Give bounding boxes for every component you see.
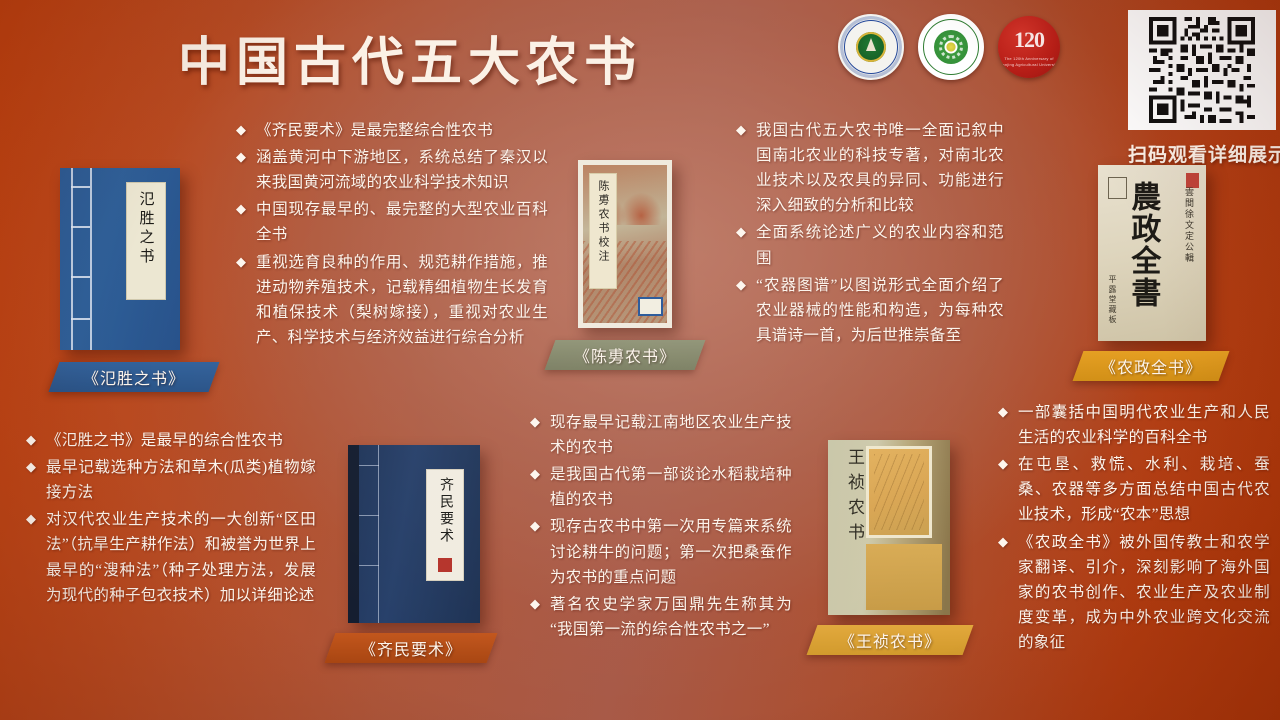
nanjing-agricultural-university-logo: [838, 14, 904, 80]
diamond-bullet-icon: ◆: [236, 198, 256, 219]
book-cover-title: 氾胜之书: [136, 191, 157, 267]
bullet-item: ◆ “农器图谱”以图说形式全面介绍了农业器械的性能和构造，为每种农具谱诗一首，为…: [736, 273, 1004, 348]
diamond-bullet-icon: ◆: [736, 274, 756, 295]
book-figure-qi-min-yao-shu: 齐民要术 《齐民要术》: [348, 445, 492, 663]
book-cover-label: 氾胜之书: [126, 182, 166, 300]
diamond-bullet-icon: ◆: [736, 119, 756, 140]
book-banner-label: 《王祯农书》: [839, 628, 941, 652]
book-stitch: [359, 465, 379, 466]
book-cover-label: 齐民要术: [426, 469, 464, 581]
book-cover-lower-panel: [866, 544, 942, 610]
diamond-bullet-icon: ◆: [26, 456, 46, 477]
bullet-text: 是我国古代第一部谈论水稻栽培种植的农书: [550, 462, 792, 512]
diamond-bullet-icon: ◆: [736, 221, 756, 242]
bullet-item: ◆ 涵盖黄河中下游地区，系统总结了秦汉以来我国黄河流域的农业科学技术知识: [236, 145, 548, 195]
book-banner-label: 《齐民要术》: [360, 636, 462, 660]
bullet-item: ◆ 《农政全书》被外国传教士和农学家翻译、引介，深刻影响了海外国家的农书创作、农…: [998, 530, 1270, 656]
book-cover-image: 陈旉农书校注: [578, 160, 672, 328]
bullet-item: ◆ 我国古代五大农书唯一全面记叙中国南北农业的科技专著，对南北农业技术以及农具的…: [736, 118, 1004, 218]
anniversary-number: 120: [1014, 27, 1044, 53]
book-spine-line: [378, 445, 379, 623]
bullet-text: 一部囊括中国明代农业生产和人民生活的农业科学的百科全书: [1018, 400, 1270, 450]
diamond-bullet-icon: ◆: [236, 119, 256, 140]
bullet-item: ◆ 在屯垦、救慌、水利、栽培、蚕桑、农器等多方面总结中国古代农业技术，形成“农本…: [998, 452, 1270, 527]
diamond-bullet-icon: ◆: [998, 453, 1018, 474]
book-spine-line: [90, 168, 92, 350]
bullet-text: 现存最早记载江南地区农业生产技术的农书: [550, 410, 792, 460]
qr-caption: 扫码观看详细展示: [1128, 140, 1276, 167]
book-figure-nong-zheng-quan-shu: 雲間徐文定公輯 農政全書 平露堂藏板 《农政全书》: [1098, 165, 1224, 381]
bullet-text: “农器图谱”以图说形式全面介绍了农业器械的性能和构造，为每种农具谱诗一首，为后世…: [756, 273, 1004, 348]
bullet-text: 我国古代五大农书唯一全面记叙中国南北农业的科技专著，对南北农业技术以及农具的异同…: [756, 118, 1004, 218]
bullet-text: 《农政全书》被外国传教士和农学家翻译、引介，深刻影响了海外国家的农书创作、农业生…: [1018, 530, 1270, 656]
bullet-item: ◆ 现存最早记载江南地区农业生产技术的农书: [530, 410, 792, 460]
book-stitch: [359, 565, 379, 566]
book-cover-image: 氾胜之书: [60, 168, 180, 350]
bullet-item: ◆ 全面系统论述广义的农业内容和范围: [736, 220, 1004, 270]
bullet-item: ◆ 《齐民要术》是最完整综合性农书: [236, 118, 548, 143]
book-banner-fan-sheng-zhi-shu: 《氾胜之书》: [49, 362, 220, 392]
text-block-wang-zhen-nong-shu: ◆ 我国古代五大农书唯一全面记叙中国南北农业的科技专著，对南北农业技术以及农具的…: [736, 118, 1004, 350]
book-banner-label: 《陈旉农书》: [574, 343, 676, 367]
bullet-text: 在屯垦、救慌、水利、栽培、蚕桑、农器等多方面总结中国古代农业技术，形成“农本”思…: [1018, 452, 1270, 527]
anniversary-subtitle: The 120th Anniversary of Nanjing Agricul…: [998, 56, 1060, 67]
book-cover-label: 陈旉农书校注: [589, 173, 617, 289]
logo-emblem: [856, 32, 886, 62]
diamond-bullet-icon: ◆: [26, 508, 46, 529]
book-banner-nong-zheng-quan-shu: 《农政全书》: [1073, 351, 1230, 381]
diamond-bullet-icon: ◆: [26, 429, 46, 450]
book-cover-left-text: 平露堂藏板: [1107, 275, 1118, 325]
text-block-chen-fu-nong-shu: ◆ 现存最早记载江南地区农业生产技术的农书 ◆ 是我国古代第一部谈论水稻栽培种植…: [530, 410, 792, 644]
red-seal: [1186, 173, 1199, 188]
book-banner-chen-fu-nong-shu: 《陈旉农书》: [545, 340, 706, 370]
diamond-bullet-icon: ◆: [530, 515, 550, 536]
bullet-item: ◆ 著名农史学家万国鼎先生称其为“我国第一流的综合性农书之一”: [530, 592, 792, 642]
book-banner-label: 《氾胜之书》: [83, 365, 185, 389]
diamond-bullet-icon: ◆: [998, 531, 1018, 552]
book-banner-qi-min-yao-shu: 《齐民要术》: [325, 633, 498, 663]
diamond-bullet-icon: ◆: [530, 463, 550, 484]
publisher-mark: [638, 297, 663, 316]
book-edge: [348, 445, 359, 623]
diamond-bullet-icon: ◆: [236, 146, 256, 167]
logo-row: 120 The 120th Anniversary of Nanjing Agr…: [838, 14, 1060, 80]
book-cover-image: 齐民要术: [348, 445, 480, 623]
seal-box: [1108, 177, 1127, 199]
text-block-fan-sheng-zhi-shu: ◆ 《氾胜之书》是最早的综合性农书 ◆ 最早记载选种方法和草木(瓜类)植物嫁接方…: [26, 428, 316, 610]
bullet-item: ◆ 一部囊括中国明代农业生产和人民生活的农业科学的百科全书: [998, 400, 1270, 450]
diamond-bullet-icon: ◆: [236, 251, 256, 272]
book-figure-fan-sheng-zhi-shu: 氾胜之书 《氾胜之书》: [60, 168, 214, 392]
bullet-item: ◆ 对汉代农业生产技术的一大创新“区田法”（抗旱生产耕作法）和被誉为世界上最早的…: [26, 507, 316, 607]
book-stitch: [71, 226, 90, 228]
bullet-text: 《氾胜之书》是最早的综合性农书: [46, 428, 316, 453]
bullet-text: 著名农史学家万国鼎先生称其为“我国第一流的综合性农书之一”: [550, 592, 792, 642]
bullet-item: ◆ 《氾胜之书》是最早的综合性农书: [26, 428, 316, 453]
bullet-item: ◆ 重视选育良种的作用、规范耕作措施，推进动物养殖技术，记载精细植物生长发育和植…: [236, 250, 548, 350]
logo-emblem: [934, 30, 968, 64]
bullet-text: 全面系统论述广义的农业内容和范围: [756, 220, 1004, 270]
infographic-poster: 中国古代五大农书 120 The 120th Anniversary of Na…: [0, 0, 1280, 720]
bullet-text: 中国现存最早的、最完整的大型农业百科全书: [256, 197, 548, 247]
book-cover-title: 王祯农书: [842, 448, 867, 548]
bullet-item: ◆ 现存古农书中第一次用专篇来系统讨论耕牛的问题；第一次把桑蚕作为农书的重点问题: [530, 514, 792, 589]
book-cover-image: 雲間徐文定公輯 農政全書 平露堂藏板: [1098, 165, 1206, 341]
book-stitch: [359, 515, 379, 516]
diamond-bullet-icon: ◆: [998, 401, 1018, 422]
bullet-text: 《齐民要术》是最完整综合性农书: [256, 118, 548, 143]
120th-anniversary-logo: 120 The 120th Anniversary of Nanjing Agr…: [998, 16, 1060, 78]
bullet-item: ◆ 是我国古代第一部谈论水稻栽培种植的农书: [530, 462, 792, 512]
bullet-text: 对汉代农业生产技术的一大创新“区田法”（抗旱生产耕作法）和被誉为世界上最早的“溲…: [46, 507, 316, 607]
book-cover-side-text: 雲間徐文定公輯: [1183, 187, 1196, 264]
bullet-item: ◆ 中国现存最早的、最完整的大型农业百科全书: [236, 197, 548, 247]
bullet-text: 最早记载选种方法和草木(瓜类)植物嫁接方法: [46, 455, 316, 505]
text-block-nong-zheng-quan-shu: ◆ 一部囊括中国明代农业生产和人民生活的农业科学的百科全书 ◆ 在屯垦、救慌、水…: [998, 400, 1270, 657]
qr-block: 扫码观看详细展示: [1128, 10, 1276, 167]
book-figure-chen-fu-nong-shu: 陈旉农书校注 《陈旉农书》: [578, 160, 700, 370]
book-figure-wang-zhen-nong-shu: 王祯农书 《王祯农书》: [828, 440, 968, 655]
book-cover-title: 齐民要术: [435, 477, 455, 545]
book-stitch: [71, 186, 90, 188]
book-cover-artwork: [866, 446, 932, 538]
book-stitch: [71, 318, 90, 320]
book-spine-line: [71, 168, 73, 350]
book-banner-wang-zhen-nong-shu: 《王祯农书》: [807, 625, 974, 655]
bullet-text: 重视选育良种的作用、规范耕作措施，推进动物养殖技术，记载精细植物生长发育和植保技…: [256, 250, 548, 350]
diamond-bullet-icon: ◆: [530, 411, 550, 432]
book-cover-title: 陈旉农书校注: [595, 180, 611, 288]
bullet-text: 现存古农书中第一次用专篇来系统讨论耕牛的问题；第一次把桑蚕作为农书的重点问题: [550, 514, 792, 589]
bullet-text: 涵盖黄河中下游地区，系统总结了秦汉以来我国黄河流域的农业科学技术知识: [256, 145, 548, 195]
qr-code-icon[interactable]: [1128, 10, 1276, 130]
diamond-bullet-icon: ◆: [530, 593, 550, 614]
book-cover-title: 農政全書: [1128, 181, 1157, 309]
book-banner-label: 《农政全书》: [1100, 354, 1202, 378]
agricultural-museum-logo: [918, 14, 984, 80]
bullet-item: ◆ 最早记载选种方法和草木(瓜类)植物嫁接方法: [26, 455, 316, 505]
book-stitch: [71, 276, 90, 278]
red-seal: [438, 558, 452, 572]
book-cover-image: 王祯农书: [828, 440, 950, 615]
text-block-qi-min-yao-shu: ◆ 《齐民要术》是最完整综合性农书 ◆ 涵盖黄河中下游地区，系统总结了秦汉以来我…: [236, 118, 548, 352]
page-title: 中国古代五大农书: [178, 20, 642, 95]
